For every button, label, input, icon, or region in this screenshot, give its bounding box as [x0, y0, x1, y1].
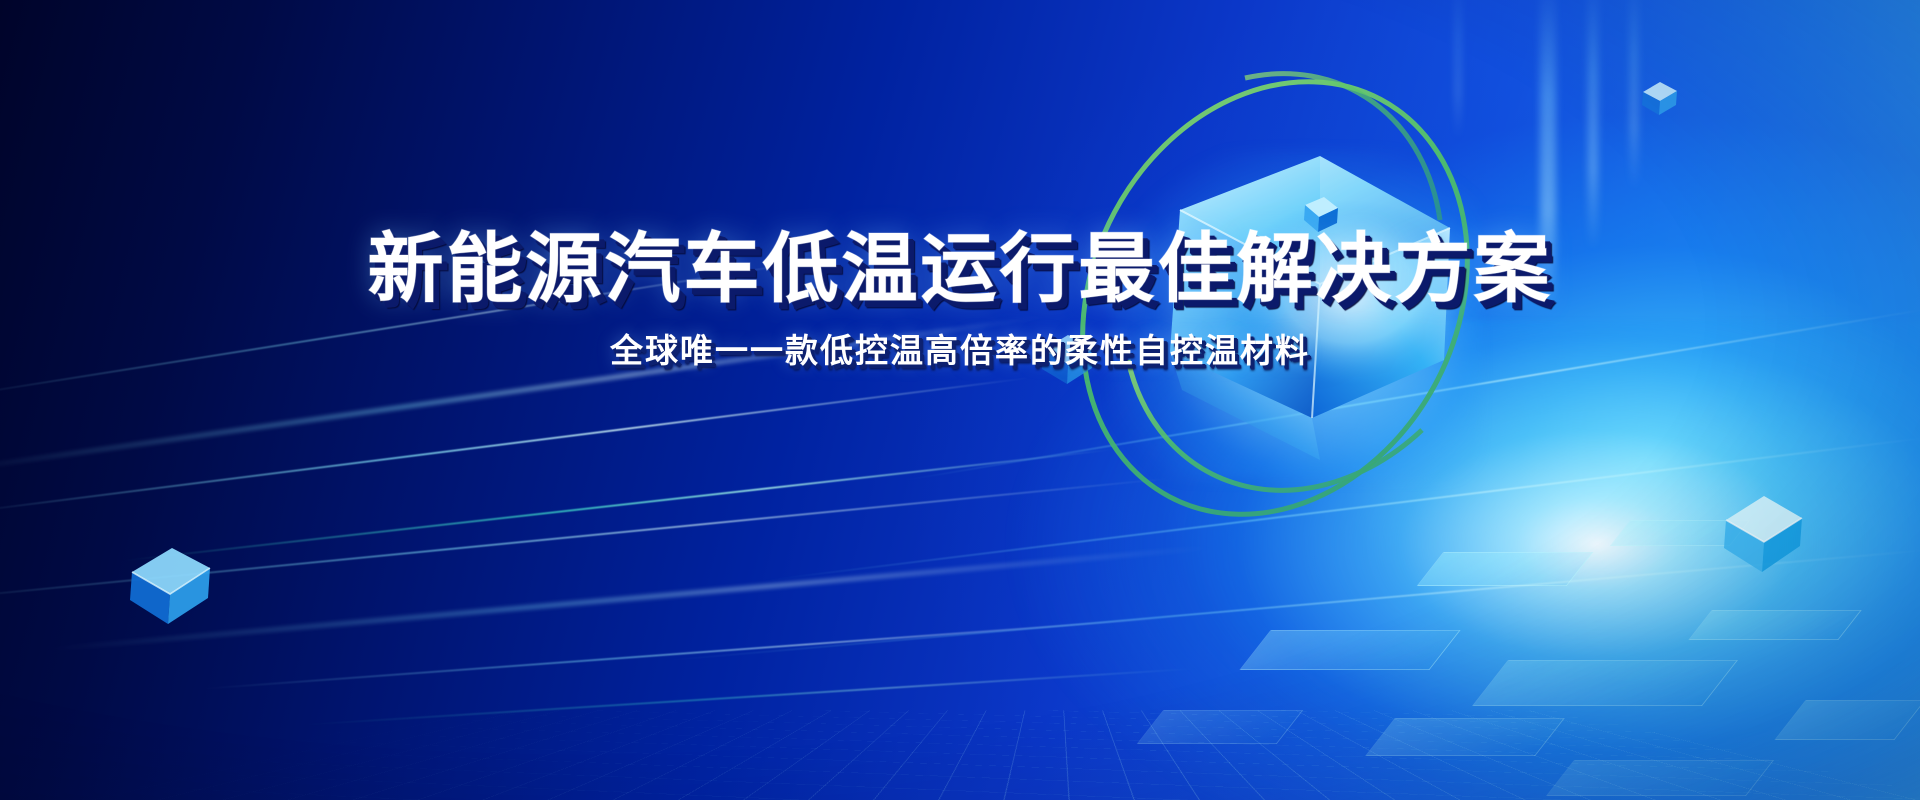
- page-title: 新能源汽车低温运行最佳解决方案: [0, 232, 1920, 308]
- floating-cube-small-top: [1640, 78, 1680, 118]
- hero-banner: 新能源汽车低温运行最佳解决方案 全球唯一一款低控温高倍率的柔性自控温材料: [0, 0, 1920, 800]
- floor-circuit-pads: [0, 460, 1920, 800]
- perspective-circuit-floor: [0, 460, 1920, 800]
- hero-text-block: 新能源汽车低温运行最佳解决方案 全球唯一一款低控温高倍率的柔性自控温材料: [0, 232, 1920, 367]
- page-subtitle: 全球唯一一款低控温高倍率的柔性自控温材料: [0, 334, 1920, 367]
- floating-cube-left: [122, 538, 218, 630]
- floating-cube-right: [1718, 488, 1810, 578]
